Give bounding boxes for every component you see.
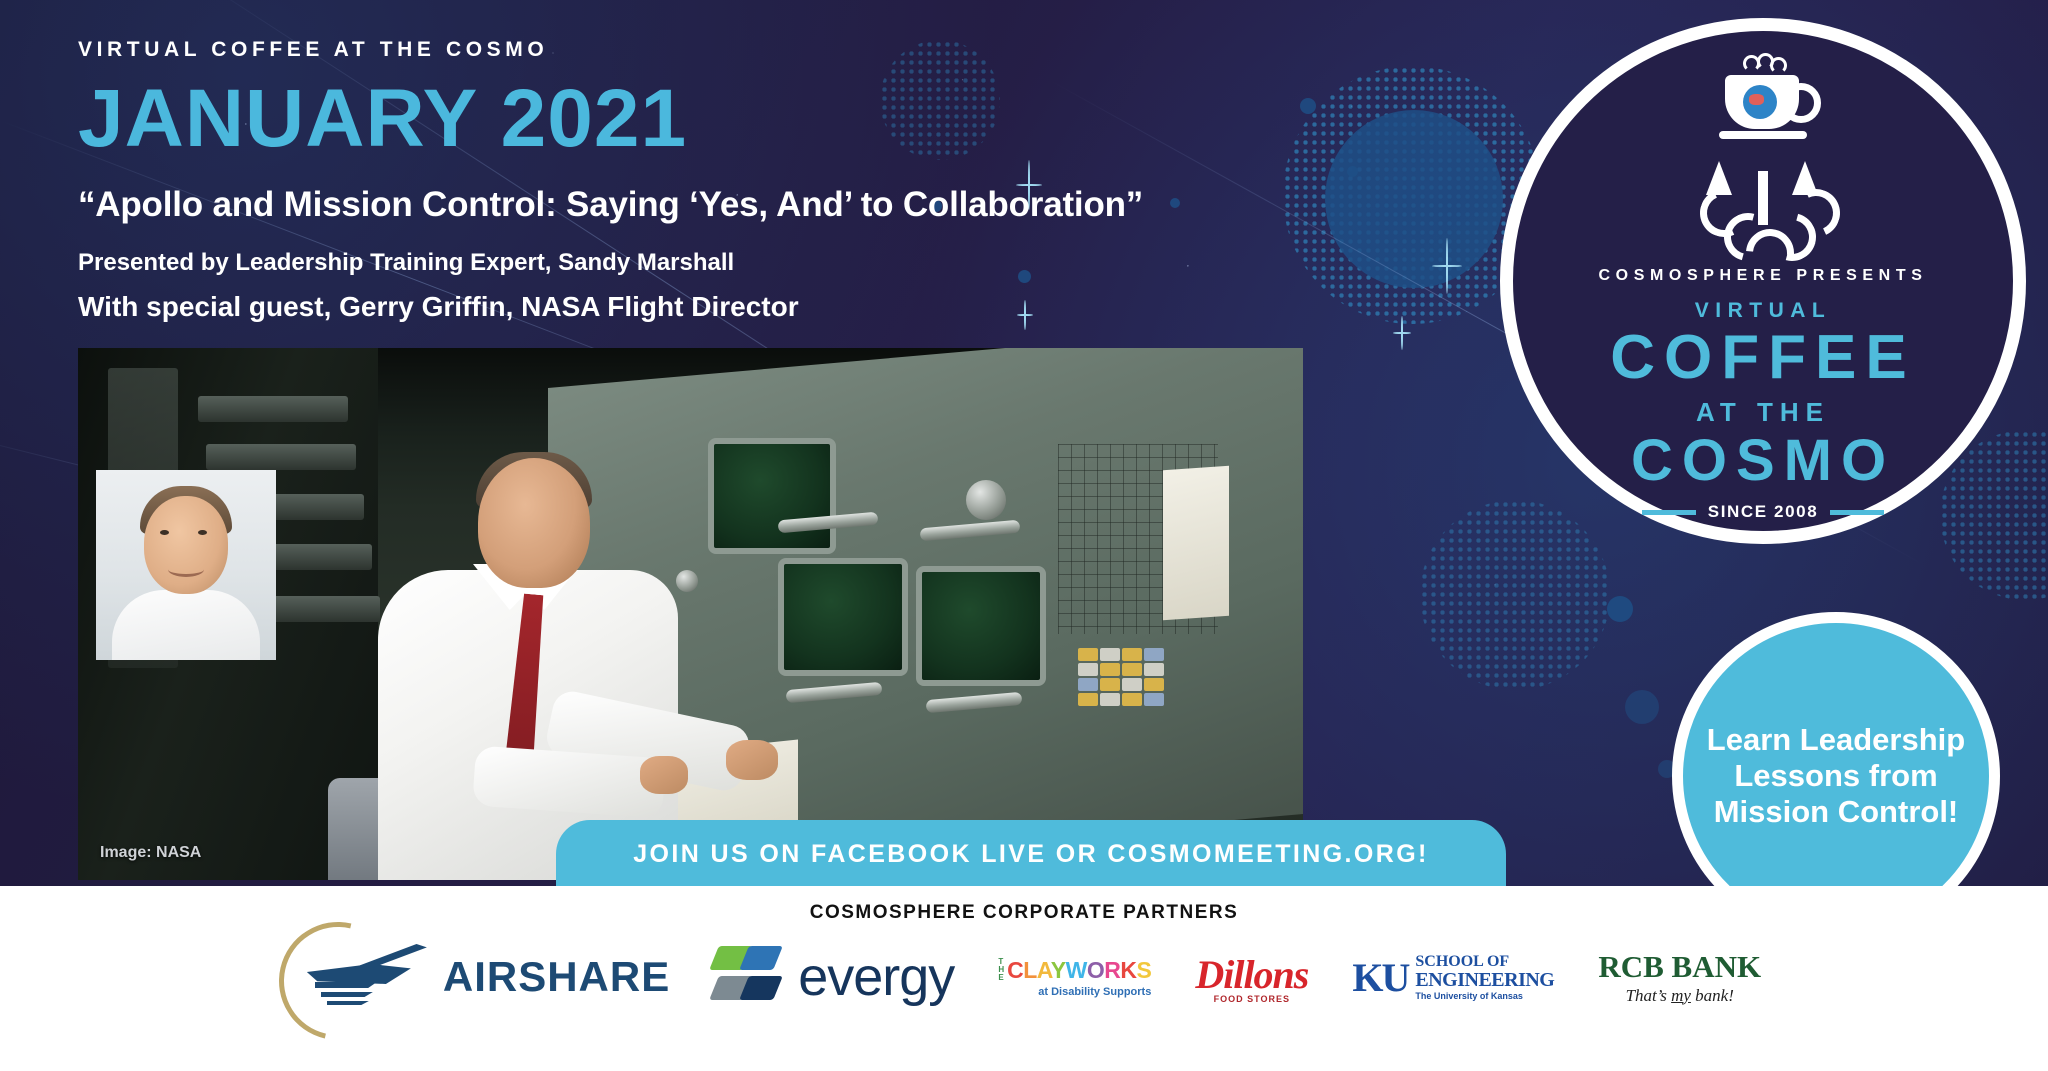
evergy-mark-icon <box>714 946 788 1008</box>
earth-icon <box>1743 85 1777 119</box>
sparkle-icon <box>1393 316 1411 350</box>
badge-virtual-text: VIRTUAL <box>1695 299 1832 323</box>
clayworks-word-row: THE CLAYWORKS <box>998 957 1151 984</box>
headshot-eye <box>198 530 207 535</box>
cta-banner[interactable]: JOIN US ON FACEBOOK LIVE OR COSMOMEETING… <box>556 820 1506 886</box>
cup-handle <box>1781 83 1821 123</box>
clayworks-letters: CLAYWORKS <box>1007 957 1151 984</box>
partner-logo-clayworks: THE CLAYWORKS at Disability Supports <box>998 957 1151 998</box>
dash-left <box>1642 510 1696 515</box>
partner-logo-airshare: AIRSHARE <box>287 938 670 1016</box>
equipment-rack <box>206 444 356 470</box>
badge-since-row: SINCE 2008 <box>1642 502 1885 522</box>
figure-head <box>478 458 590 588</box>
learn-badge-text: Learn Leadership Lessons from Mission Co… <box>1683 722 1989 831</box>
page-title: JANUARY 2021 <box>78 80 1378 159</box>
console-crt-screen <box>778 558 908 676</box>
promo-poster: VIRTUAL COFFEE AT THE COSMO JANUARY 2021… <box>0 0 2048 1071</box>
headshot-face <box>144 496 228 594</box>
rcb-wordmark: RCB BANK <box>1598 949 1761 985</box>
badge-atthe-text: AT THE <box>1696 397 1830 428</box>
ku-line-2: ENGINEERING <box>1415 970 1554 990</box>
ku-text-lines: SCHOOL OF ENGINEERING The University of … <box>1415 954 1554 1001</box>
partner-logo-dillons: Dillons FOOD STORES <box>1195 951 1308 1004</box>
sandy-marshall-headshot <box>96 470 276 660</box>
corporate-partners-strip: COSMOSPHERE CORPORATE PARTNERS AIRSHARE <box>0 886 2048 1071</box>
ku-line-1: SCHOOL OF <box>1415 954 1554 970</box>
rcb-tagline: That’s my bank! <box>1626 986 1734 1006</box>
dash-right <box>1830 510 1884 515</box>
hero-background: VIRTUAL COFFEE AT THE COSMO JANUARY 2021… <box>0 0 2048 886</box>
dillons-subtitle: FOOD STORES <box>1214 994 1290 1004</box>
figure-hand <box>640 756 688 794</box>
decor-orb <box>1607 596 1633 622</box>
console-knob <box>676 570 698 592</box>
eyebrow-text: VIRTUAL COFFEE AT THE COSMO <box>78 38 1378 62</box>
dillons-wordmark: Dillons <box>1195 951 1308 998</box>
headshot-eye <box>160 530 169 535</box>
cta-label: JOIN US ON FACEBOOK LIVE OR COSMOMEETING… <box>633 840 1429 869</box>
badge-since-text: SINCE 2008 <box>1708 502 1819 522</box>
cosmosphere-logo-badge: COSMOSPHERE PRESENTS VIRTUAL COFFEE AT T… <box>1500 18 2026 544</box>
console-indicator-lights <box>1078 648 1174 706</box>
partner-logo-ku-engineering: KU SCHOOL OF ENGINEERING The University … <box>1352 954 1554 1001</box>
decor-orb <box>1625 690 1659 724</box>
partner-logo-rcb-bank: RCB BANK That’s my bank! <box>1598 949 1761 1006</box>
airshare-wordmark: AIRSHARE <box>443 953 670 1001</box>
console-crt-screen <box>916 566 1046 686</box>
cup-saucer <box>1719 131 1807 139</box>
ku-monogram: KU <box>1352 954 1408 1001</box>
console-knob <box>966 480 1006 520</box>
clayworks-subtitle: at Disability Supports <box>1038 986 1151 998</box>
badge-cosmo-text: COSMO <box>1631 432 1895 490</box>
presenter-line: Presented by Leadership Training Expert,… <box>78 249 1378 277</box>
ku-line-3: The University of Kansas <box>1415 992 1554 1001</box>
octopus-tentacles-icon <box>1688 171 1838 263</box>
headshot-body <box>112 590 260 660</box>
partners-title: COSMOSPHERE CORPORATE PARTNERS <box>0 886 2048 924</box>
console-paper-sheet <box>1163 466 1229 621</box>
talk-title: “Apollo and Mission Control: Saying ‘Yes… <box>78 185 1378 225</box>
evergy-wordmark: evergy <box>798 946 954 1008</box>
headline-copy: VIRTUAL COFFEE AT THE COSMO JANUARY 2021… <box>78 38 1378 323</box>
headshot-smile <box>168 562 204 577</box>
badge-coffee-text: COFFEE <box>1610 327 1915 389</box>
image-credit: Image: NASA <box>100 844 201 862</box>
rcb-tagline-post: bank! <box>1691 986 1734 1005</box>
special-guest-line: With special guest, Gerry Griffin, NASA … <box>78 291 1378 323</box>
console-crt-screen <box>708 438 836 554</box>
figure-hand <box>726 740 778 780</box>
rcb-tagline-emphasis: my <box>1671 986 1691 1005</box>
clayworks-the-text: THE <box>998 958 1004 982</box>
airshare-jet-icon <box>301 938 433 1016</box>
partner-logo-evergy: evergy <box>714 946 954 1008</box>
mission-control-photo: Image: NASA <box>78 348 1303 880</box>
coffee-cup-icon <box>1703 53 1823 173</box>
partner-logo-row: AIRSHARE evergy THE <box>0 938 2048 1016</box>
equipment-rack <box>198 396 348 422</box>
halftone-circle <box>1420 500 1610 690</box>
sparkle-icon <box>1432 238 1462 294</box>
rcb-tagline-pre: That’s <box>1626 986 1672 1005</box>
